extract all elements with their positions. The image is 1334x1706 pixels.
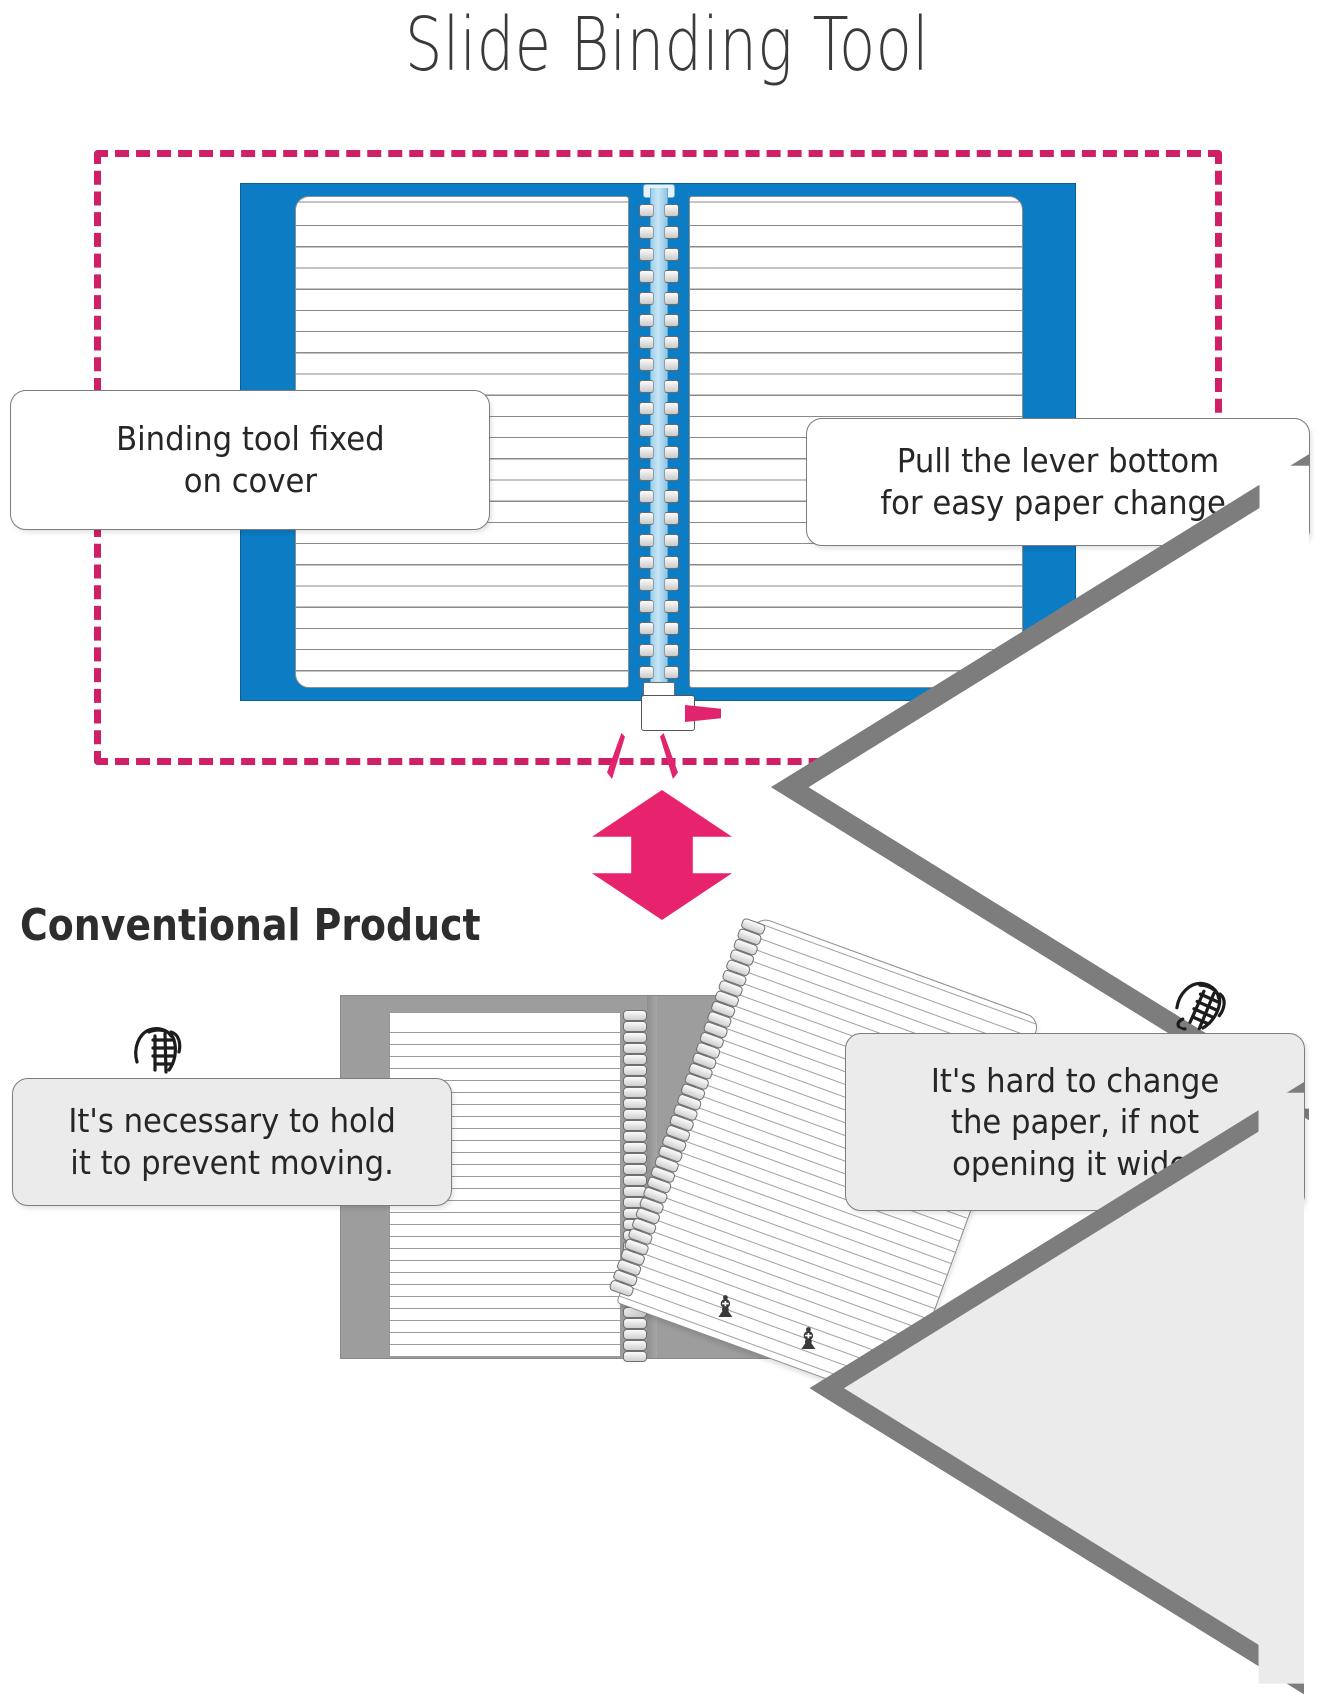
motion-mark-icon: ♝ [712, 1290, 739, 1325]
binder-ring [641, 204, 675, 215]
spiral-wire-loop [623, 1065, 647, 1076]
spiral-wire-loop [623, 1131, 647, 1142]
callout-binding-fixed: Binding tool fixed on cover [10, 390, 490, 530]
spiral-wire-loop [623, 1340, 647, 1351]
infographic-canvas: Slide Binding Tool Binding tool fixed on… [0, 0, 1334, 1359]
spiral-wire-loop [623, 1153, 647, 1164]
spiral-wire-loop [623, 1010, 647, 1021]
binder-ring [641, 380, 675, 391]
binder-ring [641, 226, 675, 237]
spiral-wire-loop [623, 1021, 647, 1032]
binder-ring [641, 314, 675, 325]
spiral-wire-loop [623, 1032, 647, 1043]
spiral-wire-loop [623, 1142, 647, 1153]
spiral-wire-loop [623, 1175, 647, 1186]
callout-pull-lever: Pull the lever bottom for easy paper cha… [806, 418, 1310, 546]
section-heading-conventional: Conventional Product [20, 900, 481, 951]
binder-ring [641, 468, 675, 479]
callout-hold-to-prevent-moving: It's necessary to hold it to prevent mov… [12, 1078, 452, 1206]
binder-ring [641, 600, 675, 611]
spiral-wire-loop [623, 1087, 647, 1098]
callout-hard-to-change-paper: It's hard to change the paper, if not op… [845, 1033, 1305, 1211]
spiral-wire-loop [623, 1054, 647, 1065]
binder-ring [641, 534, 675, 545]
spiral-wire-loop [623, 1351, 647, 1362]
binder-ring [641, 292, 675, 303]
binder-ring [641, 644, 675, 655]
spiral-wire-loop [623, 1043, 647, 1054]
spiral-wire-loop [623, 1164, 647, 1175]
binder-ring [641, 490, 675, 501]
spiral-wire-loop [623, 1120, 647, 1131]
spiral-wire-loop [623, 1109, 647, 1120]
binder-ring [641, 358, 675, 369]
binder-ring [641, 446, 675, 457]
binder-ring [641, 270, 675, 281]
binder-ring [641, 402, 675, 413]
binder-ring [641, 666, 675, 677]
binder-ring [641, 622, 675, 633]
slide-binder [641, 184, 675, 704]
binder-ring [641, 512, 675, 523]
spiral-wire-loop [623, 1098, 647, 1109]
callout-tail-icon [804, 1070, 1304, 1706]
binder-ring [641, 336, 675, 347]
binder-ring [641, 578, 675, 589]
binder-ring [641, 556, 675, 567]
double-arrow-vertical-icon [592, 790, 732, 920]
spiral-wire-loop [623, 1076, 647, 1087]
binder-slide-strip [650, 188, 668, 688]
page-title: Slide Binding Tool [133, 2, 1200, 88]
binder-ring [641, 424, 675, 435]
binder-ring [641, 248, 675, 259]
hand-holding-doodle-icon [125, 1018, 199, 1080]
